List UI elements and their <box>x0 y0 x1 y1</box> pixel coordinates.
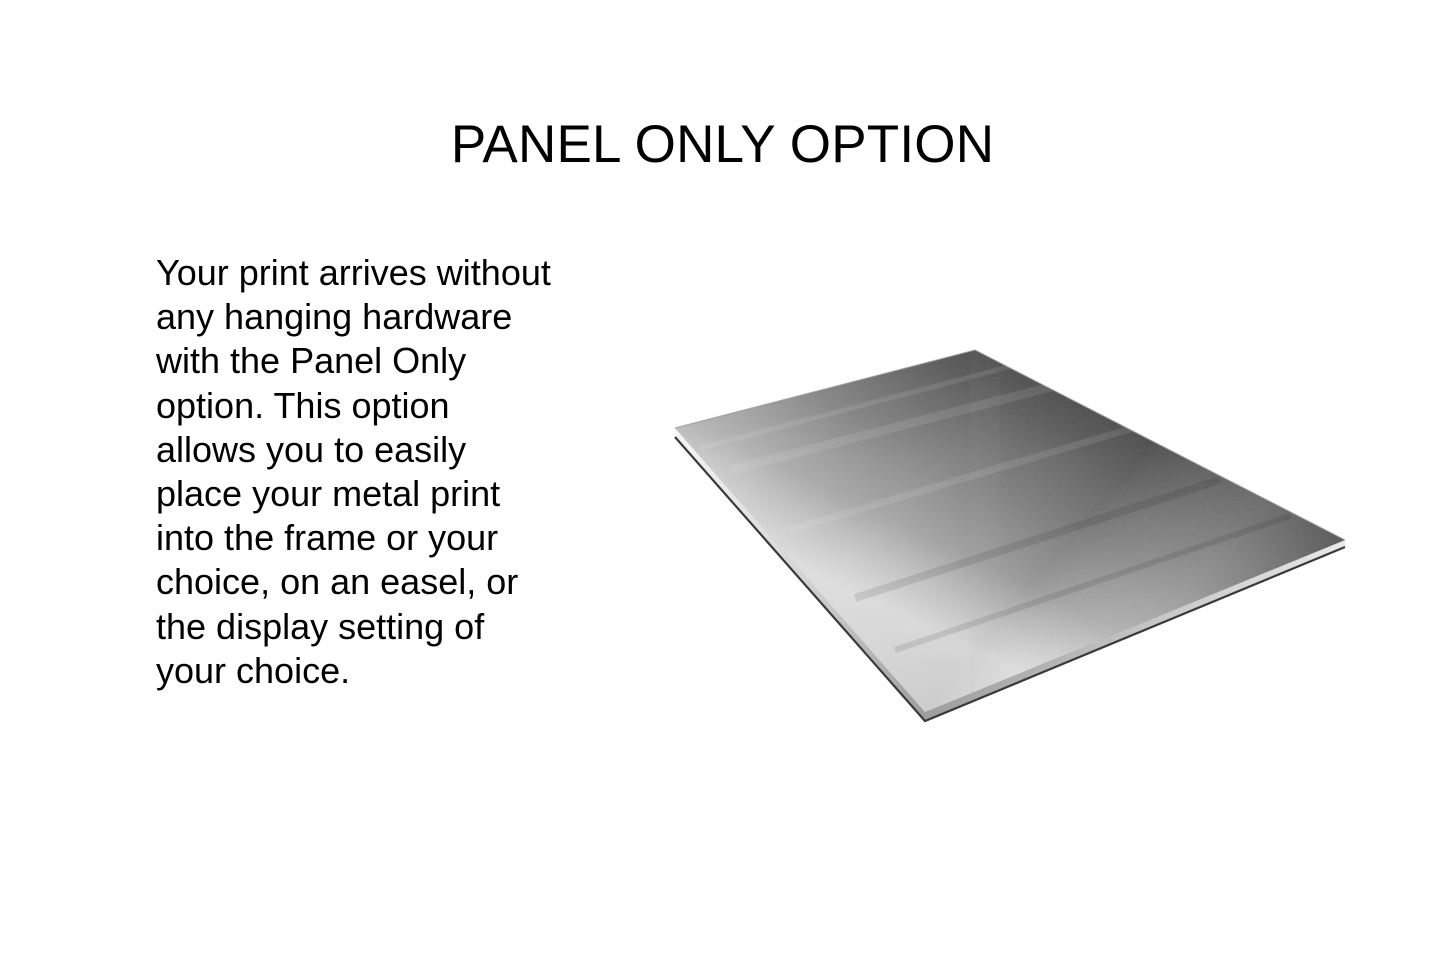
body-line: any hanging hardware <box>156 295 586 339</box>
body-line: Your print arrives without <box>156 251 586 295</box>
body-line: with the Panel Only <box>156 339 586 383</box>
metal-panel-svg <box>640 330 1380 730</box>
body-line: option. This option <box>156 384 586 428</box>
page-title: PANEL ONLY OPTION <box>0 114 1445 176</box>
body-line: place your metal print <box>156 472 586 516</box>
slide-canvas: PANEL ONLY OPTION Your print arrives wit… <box>0 0 1445 963</box>
metal-panel-illustration <box>640 330 1380 730</box>
body-line: into the frame or your <box>156 516 586 560</box>
body-line: the display setting of <box>156 605 586 649</box>
body-text-block: Your print arrives without any hanging h… <box>156 251 586 693</box>
body-line: choice, on an easel, or <box>156 560 586 604</box>
body-line: your choice. <box>156 649 586 693</box>
body-line: allows you to easily <box>156 428 586 472</box>
